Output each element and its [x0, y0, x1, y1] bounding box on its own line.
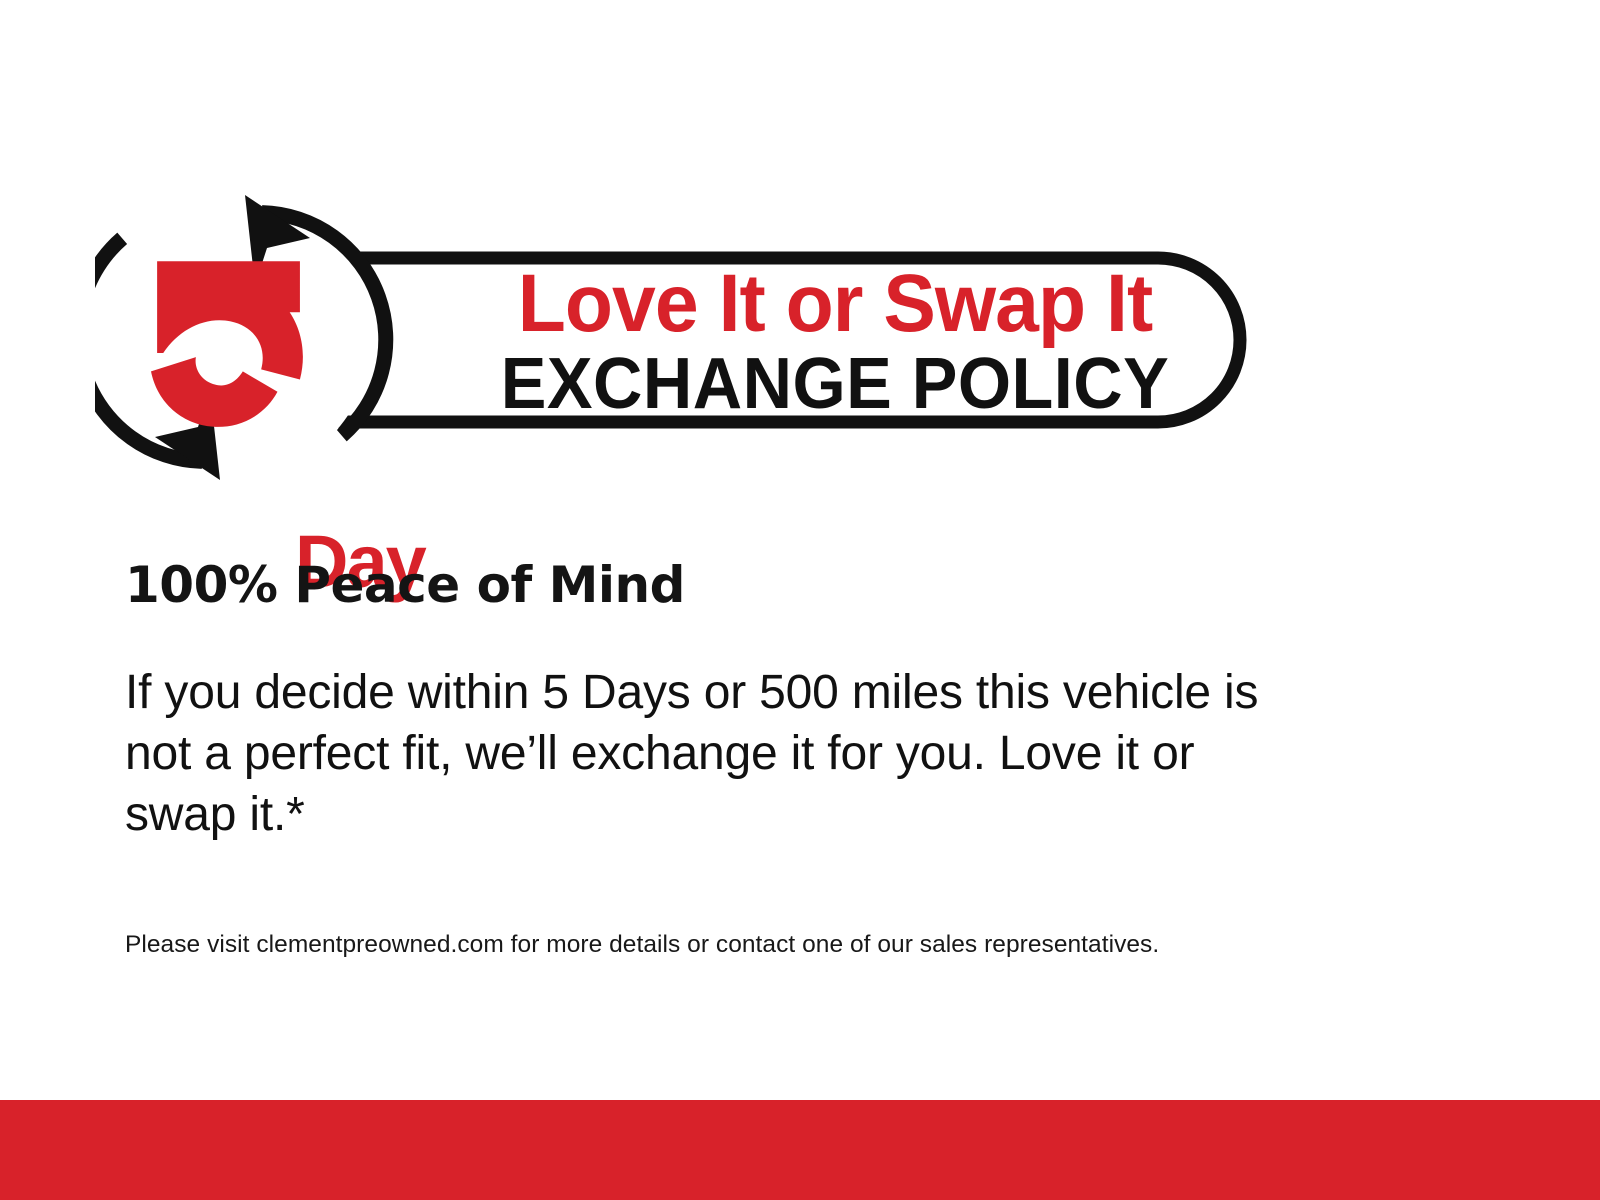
headline-peace-of-mind: 100% Peace of Mind	[125, 555, 1445, 615]
policy-description-paragraph: If you decide within 5 Days or 500 miles…	[125, 662, 1315, 845]
fine-print-disclaimer: Please visit clementpreowned.com for mor…	[125, 928, 1159, 962]
footer-accent-bar	[0, 1100, 1600, 1200]
badge-capsule-outline	[95, 190, 1275, 490]
content-body: 100% Peace of Mind If you decide within …	[125, 555, 1445, 845]
exchange-policy-promo-card: Day Love It or Swap It EXCHANGE POLICY 1…	[0, 0, 1600, 1200]
badge-lockup: Day Love It or Swap It EXCHANGE POLICY	[95, 190, 1275, 490]
